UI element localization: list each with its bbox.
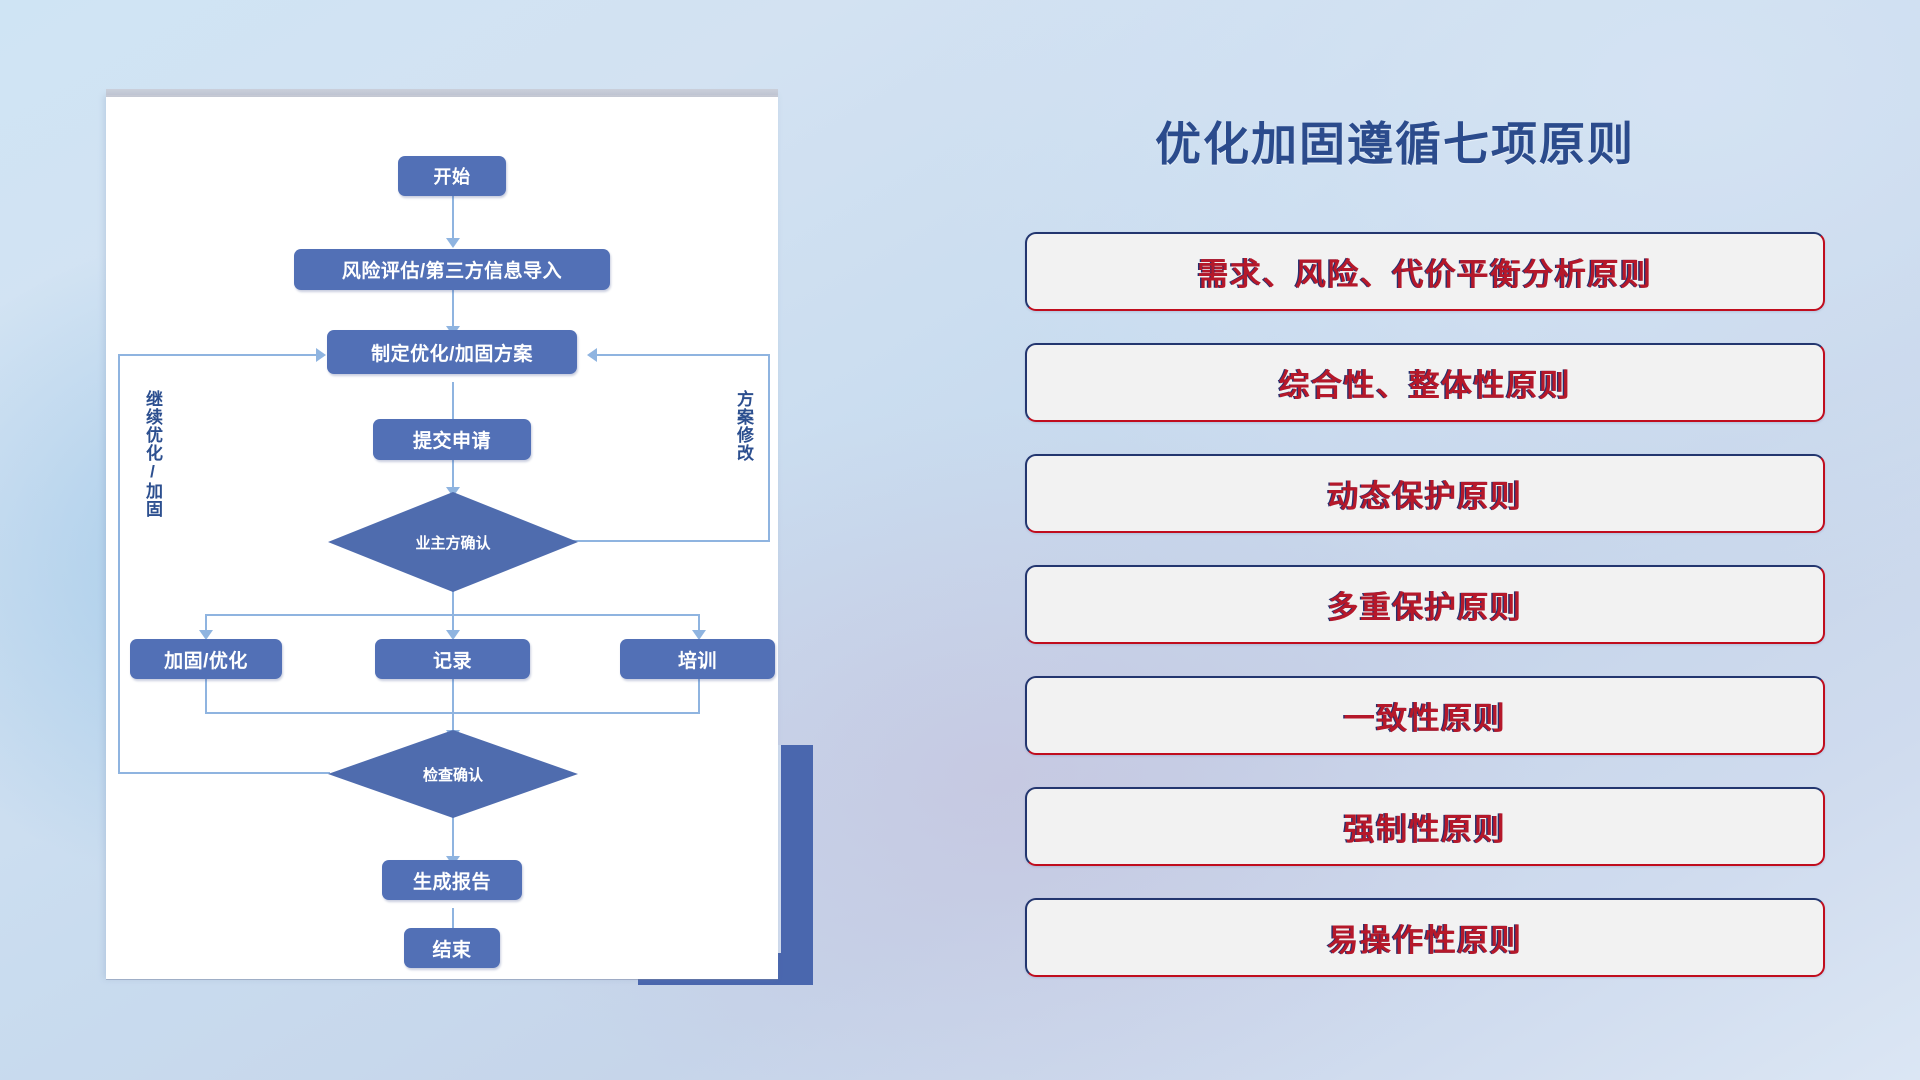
flow-node-submit-application[interactable]: 提交申请 (373, 419, 531, 460)
flow-node-risk-assessment[interactable]: 风险评估/第三方信息导入 (294, 249, 610, 290)
edge-label-continue-optimize: 继续优化/加固 (144, 390, 161, 518)
principle-item-6[interactable]: 强制性原则 (1025, 787, 1825, 866)
principle-item-3[interactable]: 动态保护原则 (1025, 454, 1825, 533)
principle-label: 综合性、整体性原则 (1279, 360, 1572, 405)
flow-node-owner-confirm-label: 业主方确认 (328, 492, 578, 592)
left-loop-arrowhead-icon (316, 348, 326, 362)
connector-start-to-risk (452, 194, 454, 240)
arrow-start-to-risk-icon (446, 238, 460, 248)
principle-item-5[interactable]: 一致性原则 (1025, 676, 1825, 755)
page-title: 优化加固遵循七项原则 (1155, 108, 1635, 174)
flowchart-panel: 继续优化/加固 方案修改 开始 风险评估/第三方信息导入 制定优化/加固方案 提… (0, 0, 880, 1080)
connector-merge-to-check (452, 678, 454, 732)
principle-label: 强制性原则 (1344, 804, 1507, 849)
left-loop-top-line (118, 354, 318, 356)
connector-training-to-merge (698, 678, 700, 714)
principle-label: 多重保护原则 (1328, 582, 1523, 627)
connector-check-to-report (452, 814, 454, 858)
card-top-edge (106, 89, 778, 97)
right-loop-top-line (597, 354, 770, 356)
principle-label: 一致性原则 (1344, 693, 1507, 738)
principle-item-4[interactable]: 多重保护原则 (1025, 565, 1825, 644)
principle-label: 需求、风险、代价平衡分析原则 (1198, 249, 1653, 294)
left-loop-vertical-line (118, 354, 120, 774)
connector-plan-to-submit (452, 382, 454, 422)
flow-node-start[interactable]: 开始 (398, 156, 506, 196)
flow-node-owner-confirm[interactable]: 业主方确认 (328, 492, 578, 592)
flow-node-check-confirm-label: 检查确认 (328, 730, 578, 818)
principle-item-2[interactable]: 综合性、整体性原则 (1025, 343, 1825, 422)
flow-node-generate-report[interactable]: 生成报告 (382, 860, 522, 900)
flow-node-check-confirm[interactable]: 检查确认 (328, 730, 578, 818)
right-loop-vertical-line (768, 354, 770, 542)
principle-label: 动态保护原则 (1328, 471, 1523, 516)
connector-risk-to-plan (452, 288, 454, 328)
edge-label-plan-revision: 方案修改 (735, 390, 752, 462)
left-loop-bottom-line (118, 772, 330, 774)
principles-list: 需求、风险、代价平衡分析原则 综合性、整体性原则 动态保护原则 多重保护原则 一… (1025, 232, 1825, 1009)
flow-node-make-plan[interactable]: 制定优化/加固方案 (327, 330, 577, 374)
principle-label: 易操作性原则 (1328, 915, 1523, 960)
principles-panel: 优化加固遵循七项原则 需求、风险、代价平衡分析原则 综合性、整体性原则 动态保护… (980, 0, 1920, 1080)
connector-confirm-to-bus (452, 590, 454, 616)
principle-item-1[interactable]: 需求、风险、代价平衡分析原则 (1025, 232, 1825, 311)
right-loop-arrowhead-icon (587, 348, 597, 362)
flow-node-training[interactable]: 培训 (620, 639, 775, 679)
connector-reinforce-to-merge (205, 678, 207, 714)
flow-node-record[interactable]: 记录 (375, 639, 530, 679)
right-loop-bottom-line (561, 540, 770, 542)
connector-submit-to-confirm (452, 458, 454, 490)
flow-node-reinforce-optimize[interactable]: 加固/优化 (130, 639, 282, 679)
principle-item-7[interactable]: 易操作性原则 (1025, 898, 1825, 977)
flow-node-end[interactable]: 结束 (404, 928, 500, 968)
